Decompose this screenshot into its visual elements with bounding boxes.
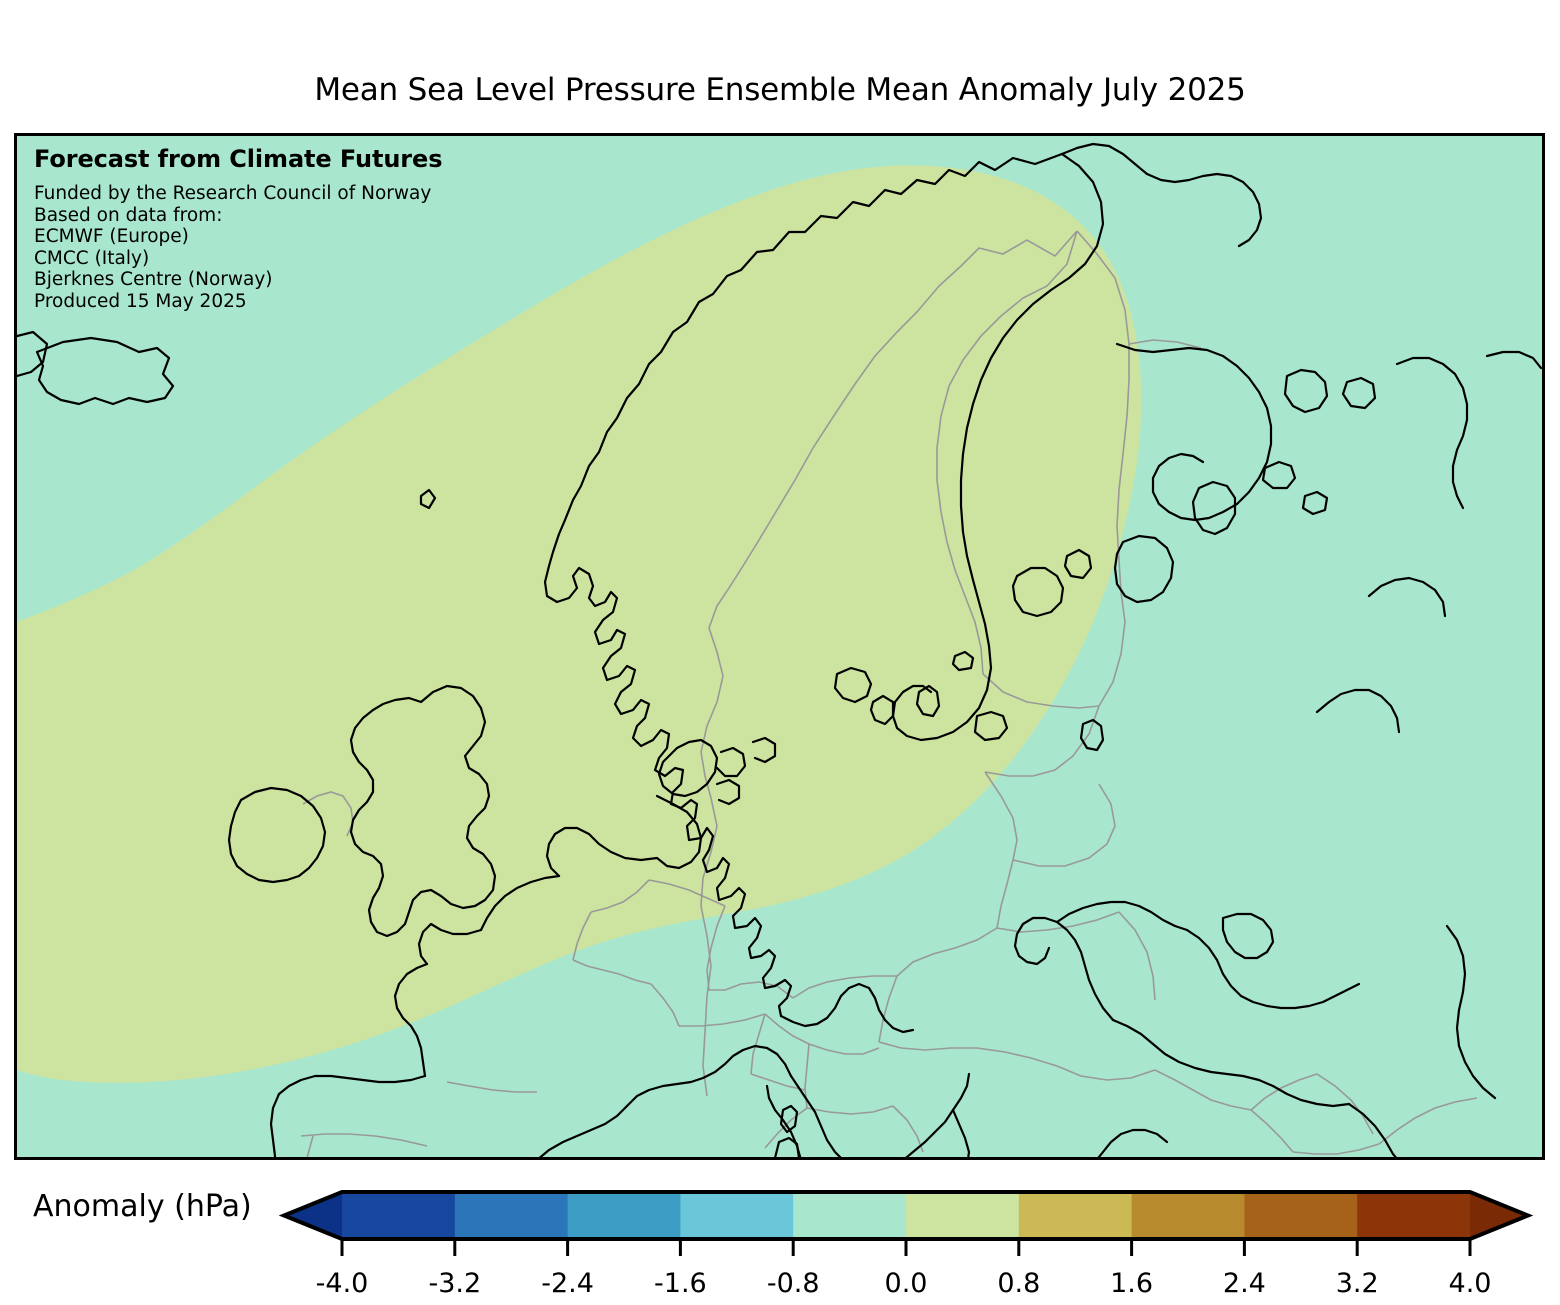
colorbar-tick-label: -3.2 (428, 1268, 481, 1299)
colorbar-over-arrow[interactable] (1470, 1192, 1528, 1239)
colorbar[interactable]: Anomaly (hPa) -4.0-3.2-2.4-1.6-0.80.00.8… (0, 1175, 1560, 1305)
colorbar-tick-label: -1.6 (654, 1268, 707, 1299)
map-panel[interactable]: Forecast from Climate Futures Funded by … (14, 133, 1545, 1160)
colorbar-segment[interactable] (1244, 1192, 1357, 1239)
colorbar-under-arrow[interactable] (284, 1192, 342, 1239)
colorbar-tick-label: 1.6 (1110, 1268, 1153, 1299)
colorbar-tick-labels: -4.0-3.2-2.4-1.6-0.80.00.81.62.43.24.0 (316, 1268, 1492, 1299)
colorbar-segment[interactable] (1132, 1192, 1245, 1239)
colorbar-ticks (342, 1239, 1470, 1256)
colorbar-tick-label: 2.4 (1223, 1268, 1266, 1299)
colorbar-tick-label: -2.4 (541, 1268, 594, 1299)
colorbar-tick-label: -4.0 (316, 1268, 369, 1299)
colorbar-tick-label: 0.8 (997, 1268, 1040, 1299)
colorbar-segment[interactable] (793, 1192, 906, 1239)
colorbar-tick-label: -0.8 (767, 1268, 820, 1299)
colorbar-segment[interactable] (680, 1192, 793, 1239)
colorbar-tick-label: 3.2 (1336, 1268, 1379, 1299)
figure-canvas: Mean Sea Level Pressure Ensemble Mean An… (0, 0, 1560, 1305)
colorbar-segment[interactable] (906, 1192, 1019, 1239)
colorbar-graphic: -4.0-3.2-2.4-1.6-0.80.00.81.62.43.24.0 (0, 1175, 1560, 1305)
colorbar-segment[interactable] (455, 1192, 568, 1239)
colorbar-segment[interactable] (1357, 1192, 1470, 1239)
map-graphic (17, 136, 1542, 1157)
page-title: Mean Sea Level Pressure Ensemble Mean An… (0, 72, 1560, 108)
colorbar-segment[interactable] (1019, 1192, 1132, 1239)
colorbar-tick-label: 0.0 (885, 1268, 928, 1299)
colorbar-tick-label: 4.0 (1449, 1268, 1492, 1299)
colorbar-segment[interactable] (568, 1192, 681, 1239)
colorbar-segment[interactable] (342, 1192, 455, 1239)
colorbar-segments[interactable] (284, 1192, 1528, 1239)
